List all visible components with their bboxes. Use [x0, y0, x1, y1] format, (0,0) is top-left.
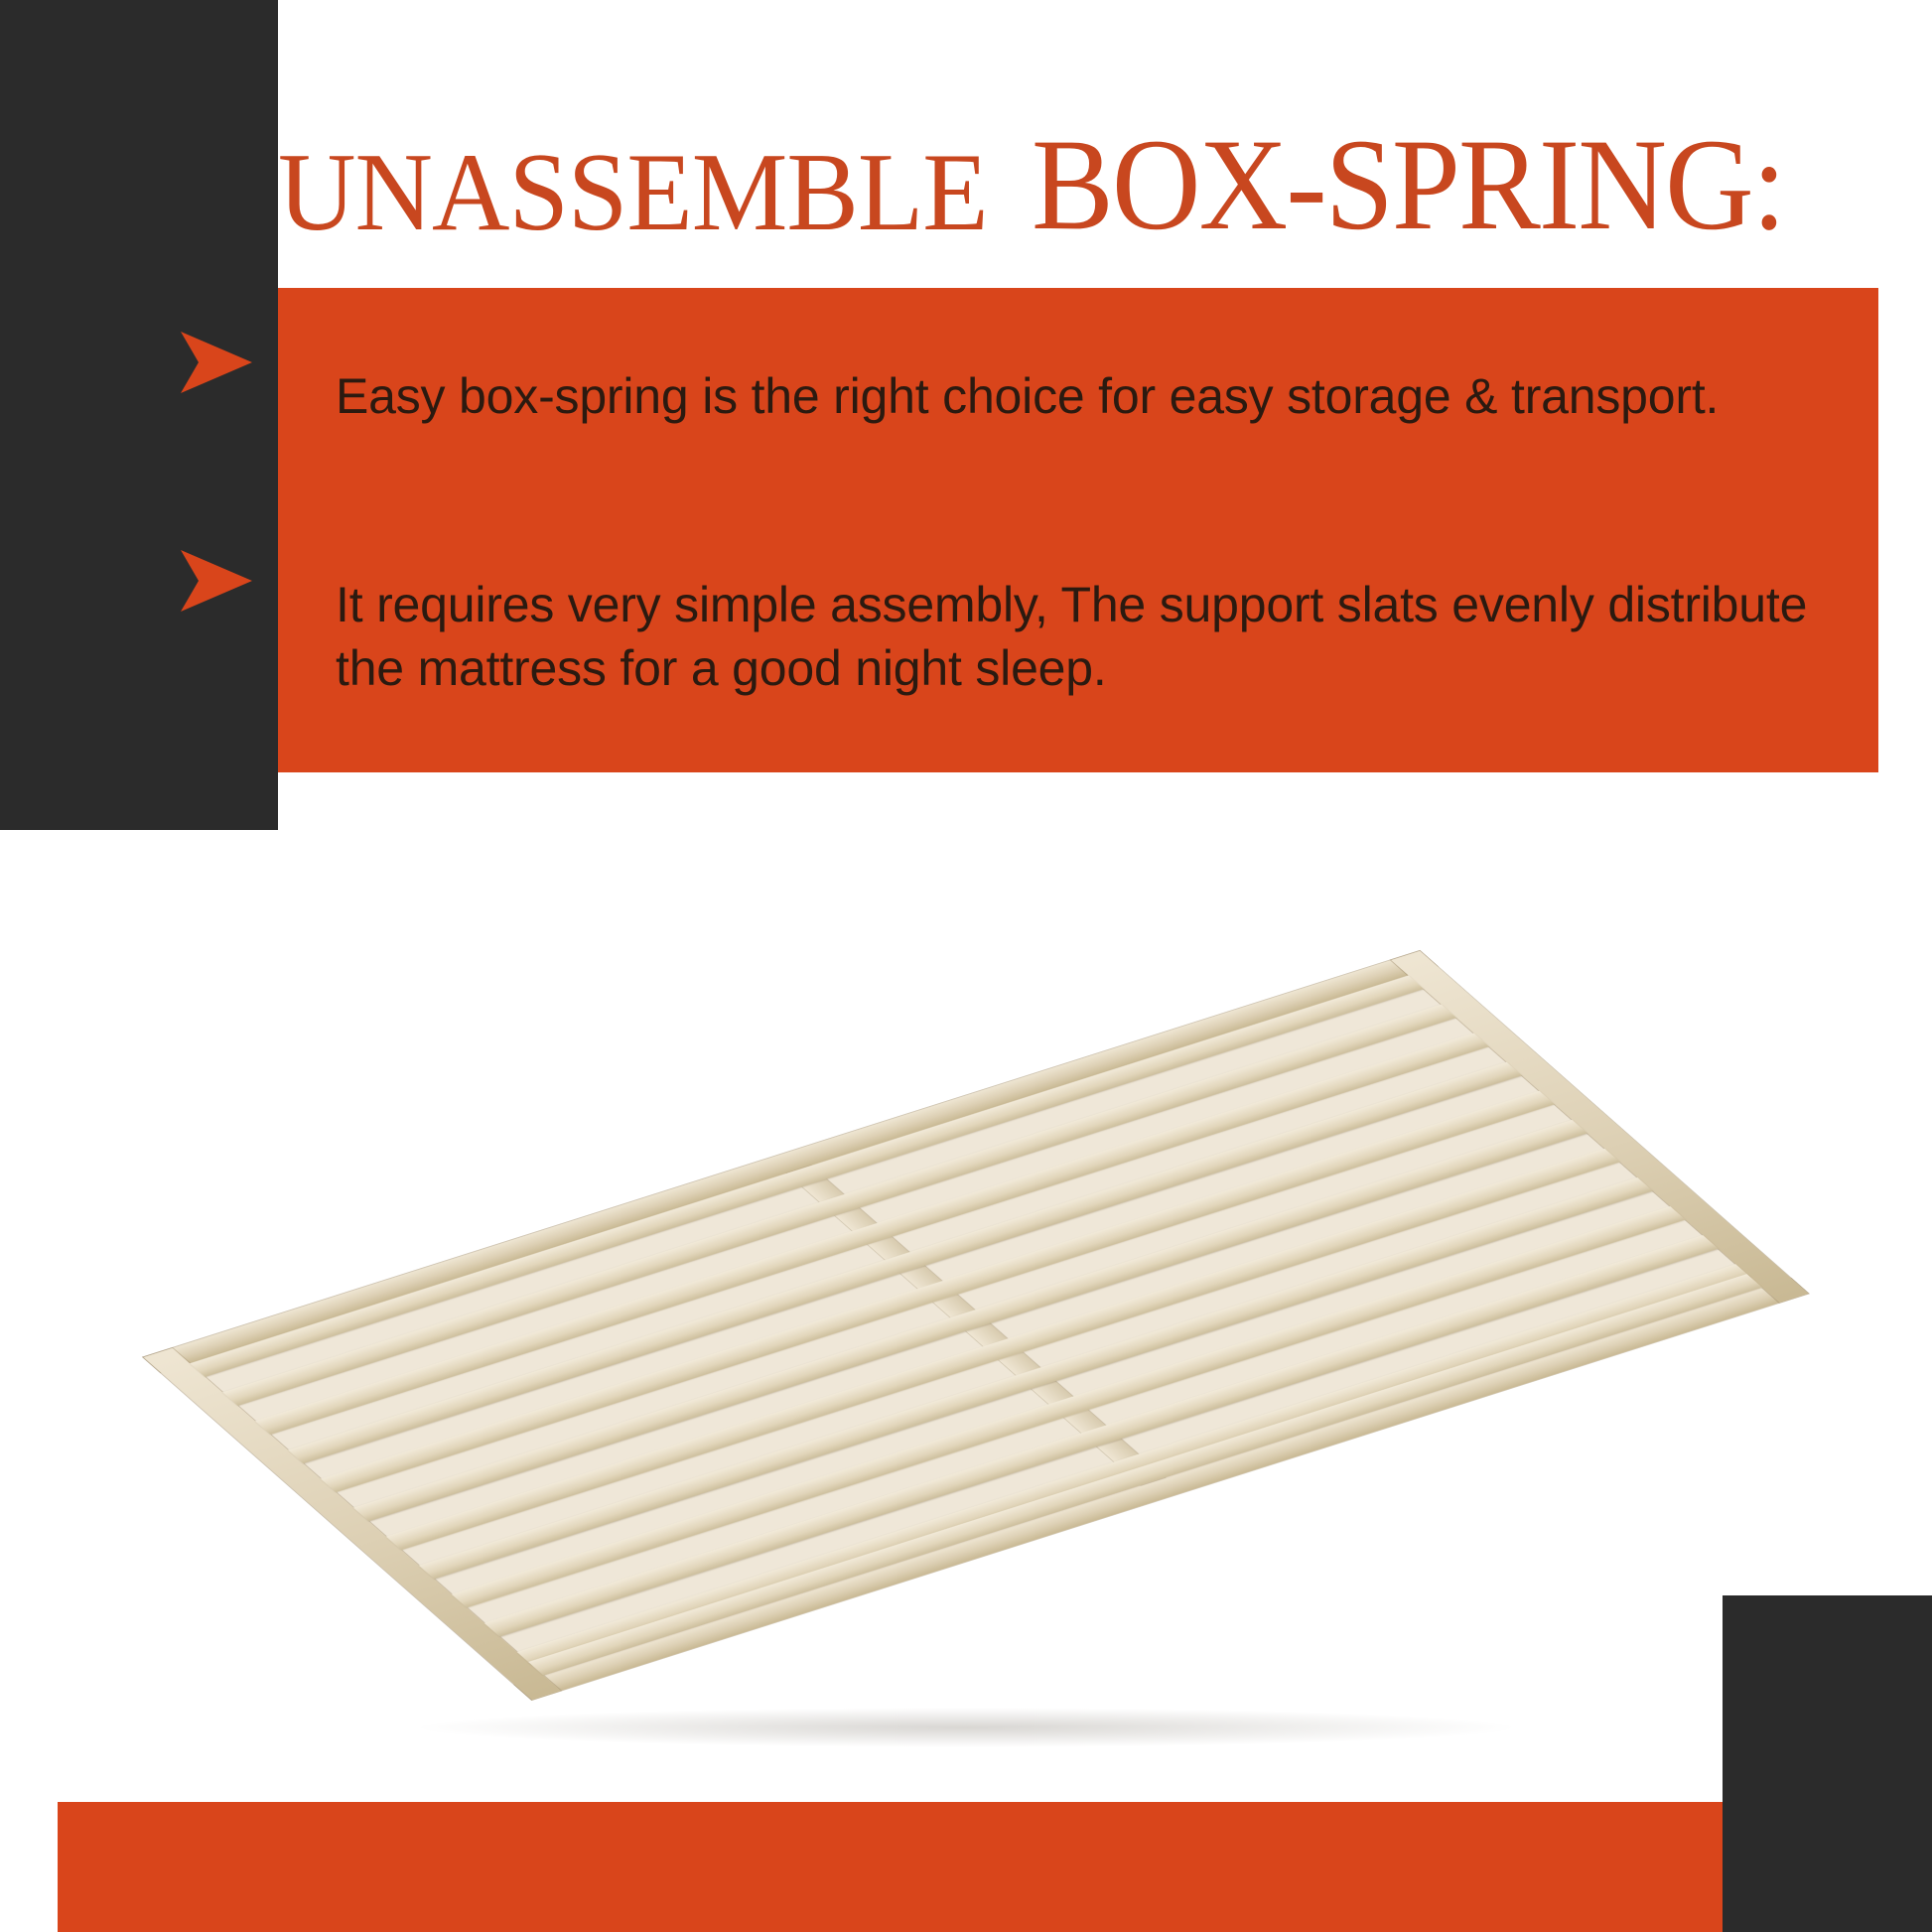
arrow-right-icon: [181, 330, 252, 395]
bullet-item-text-2: It requires very simple assembly, The su…: [336, 574, 1815, 700]
page-title-part-1: UNASSEMBLE: [278, 142, 988, 244]
bullet-item-text-1: Easy box-spring is the right choice for …: [336, 365, 1815, 429]
box-spring-drop-shadow: [410, 1708, 1522, 1747]
box-spring-photo: [0, 814, 1932, 1797]
page-title: UNASSEMBLE BOX-SPRING:: [278, 95, 1886, 244]
page-title-part-2: BOX-SPRING:: [1032, 124, 1784, 244]
bottom-right-dark-square: [1723, 1595, 1932, 1932]
box-spring-slat-deck: [143, 951, 1808, 1701]
box-spring-right-skirt: [993, 1787, 1549, 1797]
arrow-right-icon: [181, 548, 252, 614]
dark-sidebar-block: [0, 0, 278, 830]
bottom-orange-bar: [58, 1802, 1723, 1932]
